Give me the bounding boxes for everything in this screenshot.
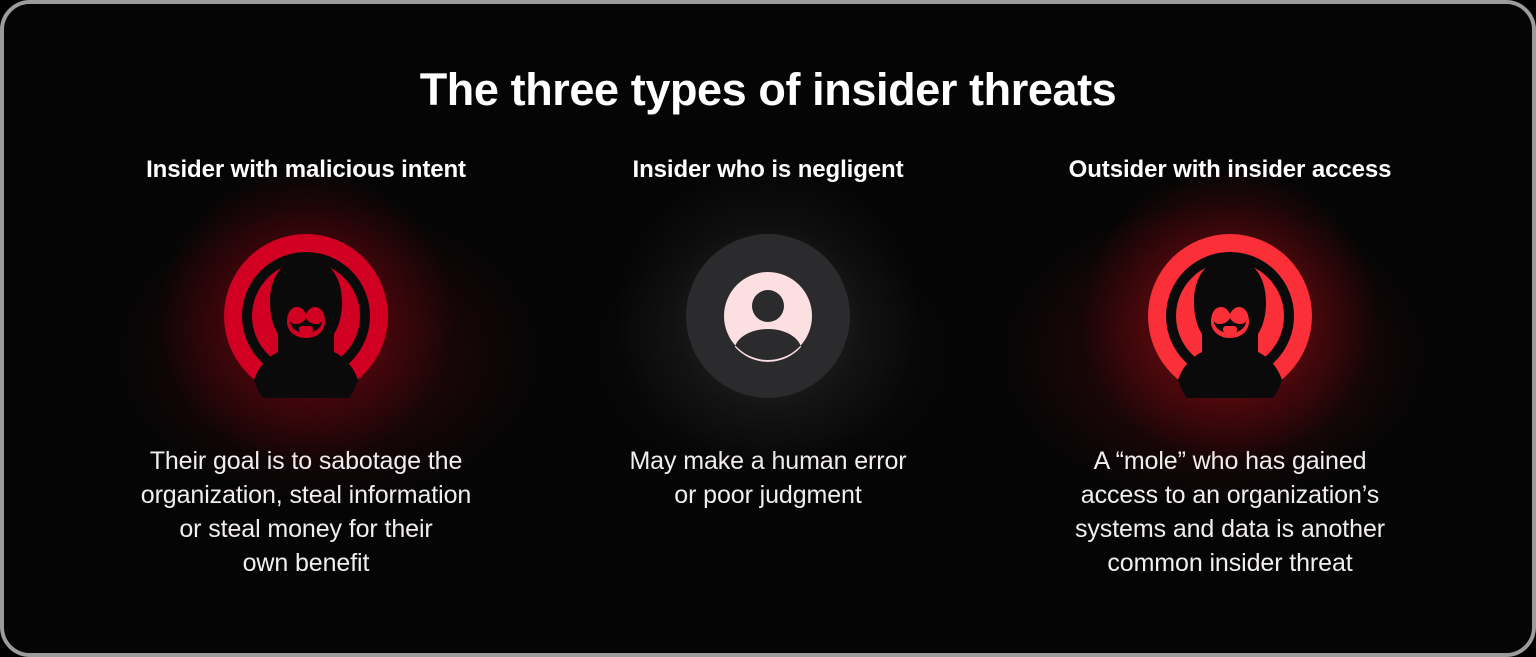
threat-type-columns: Insider with malicious intent bbox=[44, 156, 1492, 580]
page-title: The three types of insider threats bbox=[44, 62, 1492, 118]
threat-column-description: A “mole” who has gained access to an org… bbox=[1075, 444, 1385, 580]
hooded-hacker-icon bbox=[1148, 234, 1312, 398]
card-content: The three types of insider threats Insid… bbox=[4, 4, 1532, 653]
threat-column-malicious-insider: Insider with malicious intent bbox=[96, 156, 516, 580]
threat-column-negligent-insider: Insider who is negligent May make a huma… bbox=[558, 156, 978, 512]
threat-icon-container bbox=[224, 234, 388, 398]
threat-column-description: May make a human error or poor judgment bbox=[629, 444, 906, 512]
threat-column-heading: Insider with malicious intent bbox=[146, 156, 466, 184]
threat-column-heading: Outsider with insider access bbox=[1069, 156, 1392, 184]
threat-column-description: Their goal is to sabotage the organizati… bbox=[141, 444, 471, 580]
hooded-hacker-icon bbox=[224, 234, 388, 398]
person-avatar-icon bbox=[686, 234, 850, 398]
threat-icon-container bbox=[1148, 234, 1312, 398]
threat-column-heading: Insider who is negligent bbox=[633, 156, 904, 184]
threat-icon-container bbox=[686, 234, 850, 398]
threat-column-outsider-access: Outsider with insider access bbox=[1020, 156, 1440, 580]
insider-threats-infographic-card: The three types of insider threats Insid… bbox=[0, 0, 1536, 657]
